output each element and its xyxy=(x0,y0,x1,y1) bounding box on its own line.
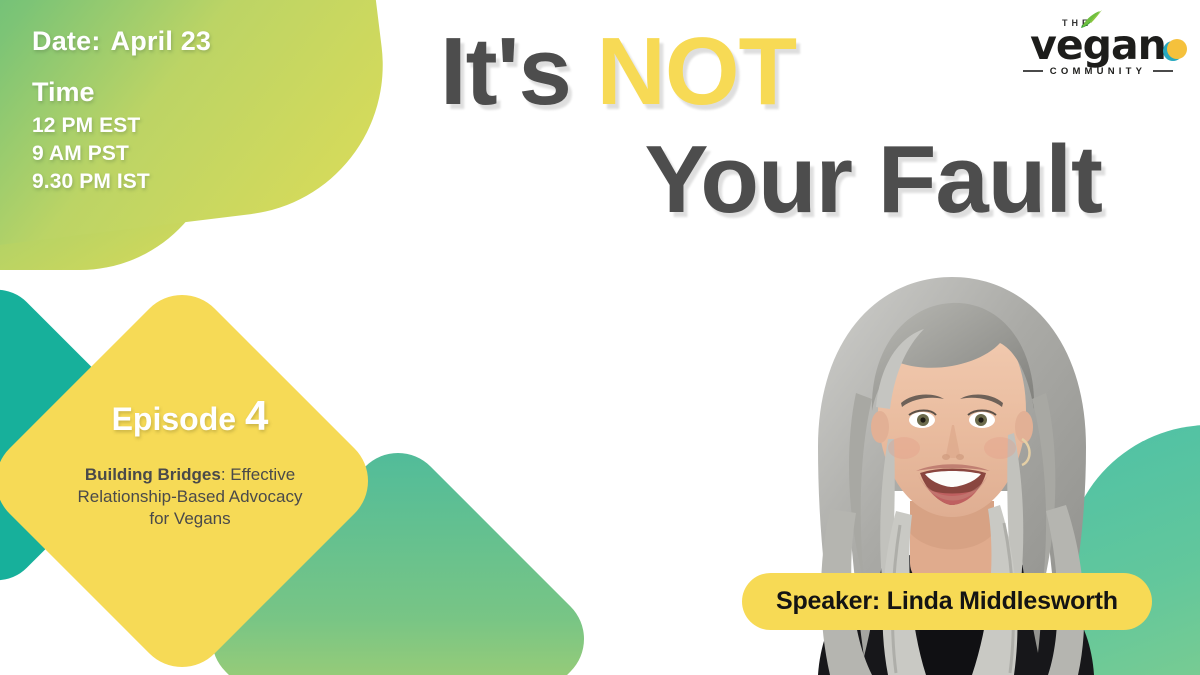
title-line-2: Your Fault xyxy=(430,126,1110,234)
logo-rule-left xyxy=(1023,70,1043,72)
date-value: April 23 xyxy=(111,26,212,56)
speaker-name-text: Speaker: Linda Middlesworth xyxy=(776,587,1118,615)
time-pst: 9 AM PST xyxy=(32,140,211,168)
episode-label: Episode xyxy=(112,401,236,437)
date-row: Date:April 23 xyxy=(32,26,211,57)
episode-topic: Building Bridges: Effective Relationship… xyxy=(70,464,310,530)
page-title: It's NOT Your Fault xyxy=(430,18,1110,233)
leaf-icon xyxy=(1078,10,1104,30)
speaker-badge: Speaker: Linda Middlesworth xyxy=(742,573,1152,630)
episode-number: 4 xyxy=(245,392,268,439)
episode-heading: Episode4 xyxy=(70,392,310,440)
time-ist: 9.30 PM IST xyxy=(32,168,211,196)
logo-wordmark: vegan xyxy=(1030,26,1166,65)
episode-block: Episode4 Building Bridges: Effective Rel… xyxy=(70,392,310,530)
title-line-1: It's NOT xyxy=(430,18,1110,126)
time-label: Time xyxy=(32,77,211,108)
vegan-community-logo: THE vegan COMMUNITY xyxy=(1018,18,1178,77)
date-label: Date: xyxy=(32,26,101,56)
time-est: 12 PM EST xyxy=(32,112,211,140)
episode-topic-title: Building Bridges xyxy=(85,465,221,484)
circle-dot-icon xyxy=(1162,37,1188,63)
webinar-promo-canvas: Date:April 23 Time 12 PM EST 9 AM PST 9.… xyxy=(0,0,1200,675)
title-not-highlight: NOT xyxy=(597,18,797,125)
logo-rule-right xyxy=(1153,70,1173,72)
title-its: It's xyxy=(440,18,597,125)
schedule-block: Date:April 23 Time 12 PM EST 9 AM PST 9.… xyxy=(32,26,211,196)
